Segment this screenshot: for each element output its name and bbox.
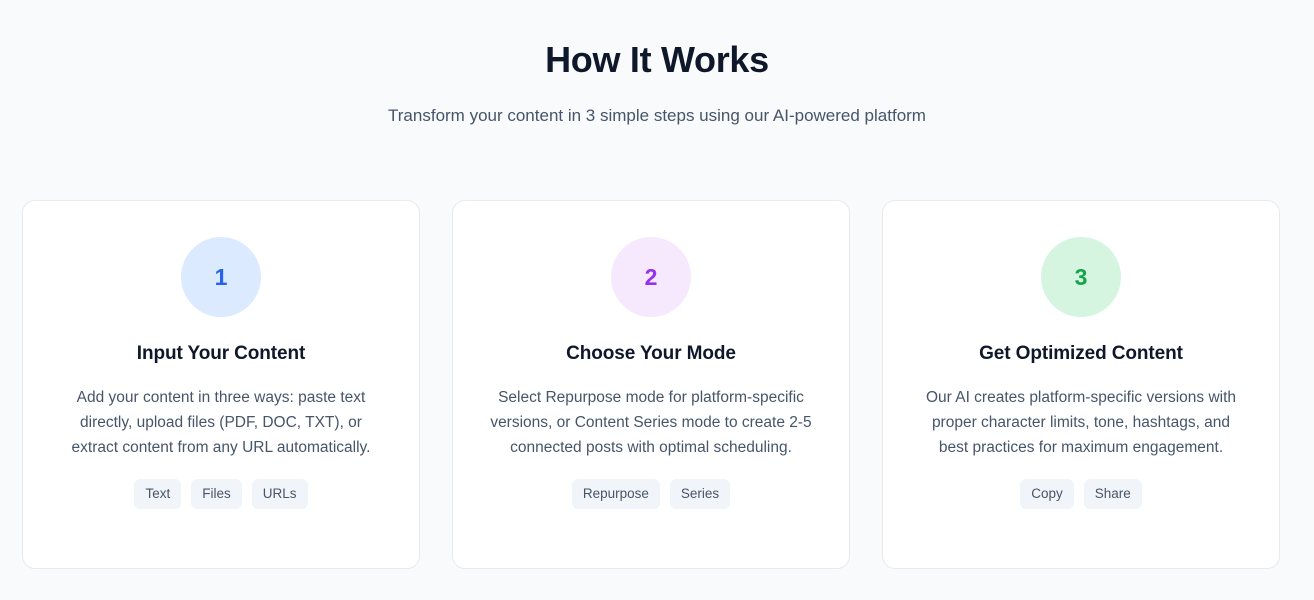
chip-repurpose[interactable]: Repurpose	[572, 479, 660, 509]
step-number-badge-3: 3	[1041, 237, 1121, 317]
step-chips-3: Copy Share	[1020, 479, 1142, 509]
step-number-2: 2	[645, 266, 658, 289]
chip-files[interactable]: Files	[191, 479, 242, 509]
step-description-3: Our AI creates platform-specific version…	[916, 385, 1246, 460]
chip-copy[interactable]: Copy	[1020, 479, 1074, 509]
step-number-1: 1	[215, 266, 228, 289]
how-it-works-page: How It Works Transform your content in 3…	[0, 0, 1314, 600]
chip-urls[interactable]: URLs	[252, 479, 308, 509]
step-title-2: Choose Your Mode	[566, 341, 736, 367]
step-number-3: 3	[1075, 266, 1088, 289]
steps-card-grid: 1 Input Your Content Add your content in…	[22, 200, 1280, 569]
step-title-3: Get Optimized Content	[979, 341, 1183, 367]
page-header: How It Works Transform your content in 3…	[0, 0, 1314, 129]
chip-share[interactable]: Share	[1084, 479, 1142, 509]
step-card-3: 3 Get Optimized Content Our AI creates p…	[882, 200, 1280, 569]
page-title: How It Works	[0, 38, 1314, 82]
step-description-1: Add your content in three ways: paste te…	[56, 385, 386, 460]
step-number-badge-1: 1	[181, 237, 261, 317]
step-number-badge-2: 2	[611, 237, 691, 317]
chip-text[interactable]: Text	[134, 479, 181, 509]
step-card-2: 2 Choose Your Mode Select Repurpose mode…	[452, 200, 850, 569]
page-subtitle: Transform your content in 3 simple steps…	[0, 103, 1314, 129]
chip-series[interactable]: Series	[670, 479, 730, 509]
step-title-1: Input Your Content	[137, 341, 305, 367]
step-chips-2: Repurpose Series	[572, 479, 730, 509]
step-chips-1: Text Files URLs	[134, 479, 307, 509]
step-card-1: 1 Input Your Content Add your content in…	[22, 200, 420, 569]
step-description-2: Select Repurpose mode for platform-speci…	[486, 385, 816, 460]
